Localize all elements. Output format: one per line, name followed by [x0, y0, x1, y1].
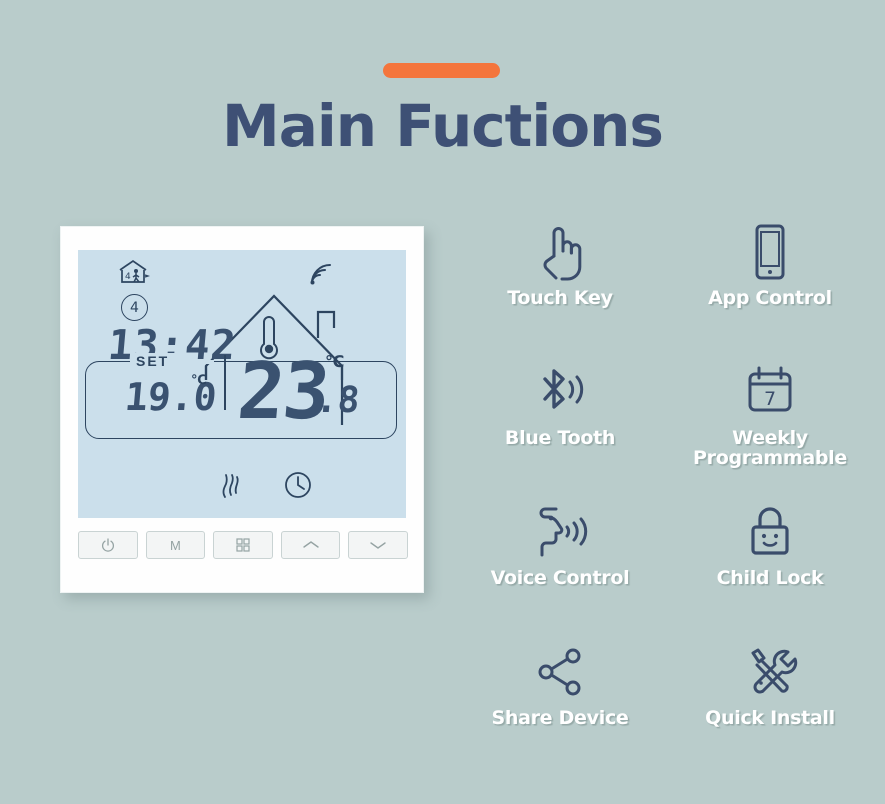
- grid-four-squares-icon: [236, 538, 250, 552]
- home-occupancy-icon: 4: [116, 258, 150, 286]
- wifi-icon: [308, 262, 334, 286]
- feature-label: Blue Tooth: [505, 429, 615, 449]
- current-temperature-decimal: .8: [314, 383, 361, 419]
- mode-button[interactable]: M: [146, 531, 206, 559]
- feature-blue-tooth[interactable]: Blue Tooth: [455, 355, 665, 495]
- power-icon: [101, 538, 115, 552]
- wrench-screwdriver-icon: [742, 641, 798, 703]
- lcd-screen: 4 4 13:42 SET 19.0 ℃ 23: [78, 250, 406, 518]
- panel-divider: [224, 355, 226, 410]
- feature-share-device[interactable]: Share Device: [455, 635, 665, 775]
- feature-touch-key[interactable]: Touch Key: [455, 215, 665, 355]
- accent-bar: [383, 63, 500, 78]
- bluetooth-signal-icon: [532, 361, 588, 423]
- feature-label: WeeklyProgrammable: [693, 429, 847, 469]
- menu-button[interactable]: [213, 531, 273, 559]
- svg-text:4: 4: [125, 272, 131, 282]
- feature-grid: Touch Key App Control Blue Tooth: [455, 215, 875, 775]
- speaking-face-icon: [531, 501, 589, 563]
- feature-label: Share Device: [491, 709, 628, 729]
- share-nodes-icon: [533, 641, 587, 703]
- feature-label: Quick Install: [705, 709, 835, 729]
- svg-text:7: 7: [764, 388, 776, 410]
- feature-child-lock[interactable]: Child Lock: [665, 495, 875, 635]
- page-title: Main Fuctions: [0, 92, 885, 160]
- pointing-hand-icon: [534, 221, 586, 283]
- heating-icon: [218, 471, 244, 499]
- chevron-up-icon: [302, 539, 320, 551]
- down-button[interactable]: [348, 531, 408, 559]
- feature-label: Touch Key: [507, 289, 612, 309]
- feature-voice-control[interactable]: Voice Control: [455, 495, 665, 635]
- feature-label: App Control: [708, 289, 832, 309]
- feature-label: Child Lock: [717, 569, 824, 589]
- set-label: SET: [130, 353, 175, 369]
- up-button[interactable]: [281, 531, 341, 559]
- feature-weekly-programmable[interactable]: 7 WeeklyProgrammable: [665, 355, 875, 495]
- set-temperature-unit: ℃: [191, 374, 207, 387]
- clock-icon: [283, 470, 313, 500]
- device-button-row: M: [78, 531, 408, 557]
- chevron-down-icon: [369, 539, 387, 551]
- feature-label: Voice Control: [491, 569, 630, 589]
- feature-app-control[interactable]: App Control: [665, 215, 875, 355]
- weekday-indicator: 4: [121, 294, 148, 321]
- feature-quick-install[interactable]: Quick Install: [665, 635, 875, 775]
- current-temperature-unit: ℃: [325, 354, 344, 370]
- smartphone-icon: [750, 221, 790, 283]
- power-button[interactable]: [78, 531, 138, 559]
- calendar-7-icon: 7: [745, 361, 795, 423]
- thermostat-device: 4 4 13:42 SET 19.0 ℃ 23: [60, 226, 424, 593]
- title-area: Main Fuctions: [0, 0, 885, 180]
- padlock-smile-icon: [746, 501, 794, 563]
